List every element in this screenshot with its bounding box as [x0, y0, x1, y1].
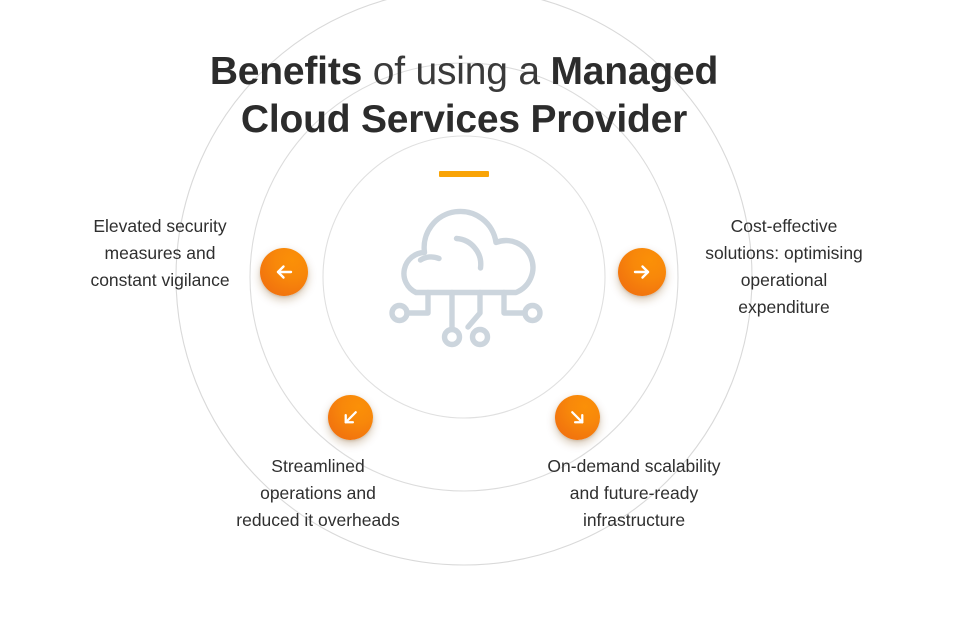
benefit-label-line: operational	[668, 267, 900, 294]
benefit-label-line: Elevated security	[42, 213, 278, 240]
benefit-label-line: and future-ready	[510, 480, 758, 507]
cloud-network-icon	[384, 196, 544, 366]
benefit-label-line: Cost-effective	[668, 213, 900, 240]
title-line-1: Benefits of using a Managed	[130, 48, 798, 96]
arrow-right-icon	[631, 261, 653, 283]
benefit-label-streamlined-operations: Streamlined operations and reduced it ov…	[198, 453, 438, 534]
title-part-managed: Managed	[551, 50, 719, 93]
benefit-label-line: Streamlined	[198, 453, 438, 480]
benefit-label-line: constant vigilance	[42, 267, 278, 294]
arrow-down-right-icon	[567, 407, 588, 428]
benefit-label-cost-effective: Cost-effective solutions: optimising ope…	[668, 213, 900, 322]
benefit-label-line: operations and	[198, 480, 438, 507]
benefit-label-line: reduced it overheads	[198, 507, 438, 534]
arrow-down-left-icon	[340, 407, 361, 428]
page-title: Benefits of using a Managed Cloud Servic…	[130, 48, 798, 145]
title-accent-bar	[439, 171, 489, 177]
benefit-badge-cost-effective[interactable]	[618, 248, 666, 296]
infographic-canvas: Benefits of using a Managed Cloud Servic…	[0, 0, 960, 623]
benefit-label-line: expenditure	[668, 294, 900, 321]
benefit-label-line: infrastructure	[510, 507, 758, 534]
title-part-benefits: Benefits	[210, 50, 362, 93]
benefit-label-on-demand-scalability: On-demand scalability and future-ready i…	[510, 453, 758, 534]
benefit-badge-on-demand-scalability[interactable]	[555, 395, 600, 440]
benefit-label-line: measures and	[42, 240, 278, 267]
benefit-label-line: On-demand scalability	[510, 453, 758, 480]
benefit-label-line: solutions: optimising	[668, 240, 900, 267]
benefit-badge-streamlined-operations[interactable]	[328, 395, 373, 440]
title-part-of-using-a: of using a	[362, 50, 550, 93]
title-line-2: Cloud Services Provider	[130, 96, 798, 144]
benefit-label-elevated-security: Elevated security measures and constant …	[42, 213, 278, 294]
